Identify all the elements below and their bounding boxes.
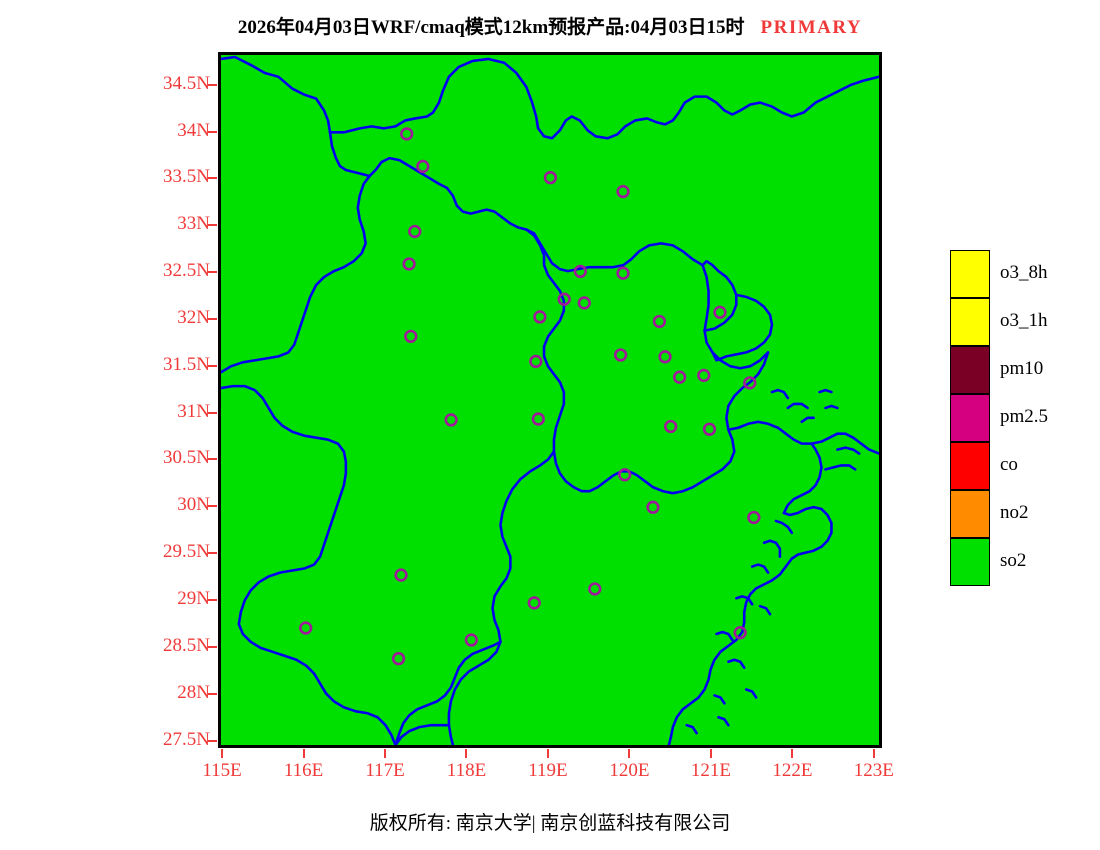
x-tick-label: 115E [182,760,262,782]
legend-swatch [950,346,990,394]
map-svg [221,55,879,745]
y-tick-label: 32N [100,307,210,329]
legend-label: no2 [1000,502,1029,524]
x-tick-label: 117E [345,760,425,782]
x-tick-label: 123E [834,760,914,782]
page-title: 2026年04月03日WRF/cmaq模式12km预报产品:04月03日15时P… [0,12,1100,40]
y-tick-label: 33.5N [100,166,210,188]
legend-item-o3-1h[interactable]: o3_1h [950,298,1094,346]
legend-swatch [950,298,990,346]
x-tick-mark [303,749,305,758]
y-tick-label: 34N [100,120,210,142]
map-background [221,55,879,745]
x-tick-mark [547,749,549,758]
x-tick-label: 118E [426,760,506,782]
y-tick-label: 29.5N [100,541,210,563]
x-tick-mark [628,749,630,758]
x-tick-label: 121E [671,760,751,782]
legend-item-pm2-5[interactable]: pm2.5 [950,394,1094,442]
legend: o3_8ho3_1hpm10pm2.5cono2so2 [950,250,1094,590]
x-tick-mark [384,749,386,758]
y-tick-label: 30.5N [100,447,210,469]
legend-item-co[interactable]: co [950,442,1094,490]
x-tick-mark [710,749,712,758]
x-tick-label: 116E [264,760,344,782]
legend-swatch [950,490,990,538]
legend-swatch [950,250,990,298]
legend-label: so2 [1000,550,1026,572]
y-tick-label: 32.5N [100,260,210,282]
legend-label: co [1000,454,1018,476]
y-tick-label: 29N [100,588,210,610]
x-tick-label: 120E [589,760,669,782]
legend-label: pm10 [1000,358,1043,380]
legend-item-pm10[interactable]: pm10 [950,346,1094,394]
legend-item-no2[interactable]: no2 [950,490,1094,538]
legend-label: o3_1h [1000,310,1048,332]
y-tick-label: 30N [100,494,210,516]
x-tick-mark [791,749,793,758]
legend-label: pm2.5 [1000,406,1048,428]
legend-item-o3-8h[interactable]: o3_8h [950,250,1094,298]
forecast-map-page: 2026年04月03日WRF/cmaq模式12km预报产品:04月03日15时P… [0,0,1100,850]
legend-label: o3_8h [1000,262,1048,284]
title-main-text: 2026年04月03日WRF/cmaq模式12km预报产品:04月03日15时 [238,17,745,38]
x-tick-mark [221,749,223,758]
x-tick-mark [465,749,467,758]
y-tick-label: 34.5N [100,73,210,95]
legend-swatch [950,442,990,490]
legend-swatch [950,538,990,586]
map-plot-area[interactable] [218,52,882,748]
y-tick-label: 31.5N [100,354,210,376]
x-tick-mark [873,749,875,758]
legend-swatch [950,394,990,442]
y-tick-label: 28N [100,682,210,704]
copyright-footer: 版权所有: 南京大学| 南京创蓝科技有限公司 [0,808,1100,835]
y-tick-label: 28.5N [100,635,210,657]
y-tick-label: 33N [100,213,210,235]
y-tick-label: 27.5N [100,729,210,751]
legend-item-so2[interactable]: so2 [950,538,1094,586]
x-tick-label: 122E [752,760,832,782]
title-primary-tag: PRIMARY [761,17,863,38]
x-tick-label: 119E [508,760,588,782]
y-tick-label: 31N [100,401,210,423]
